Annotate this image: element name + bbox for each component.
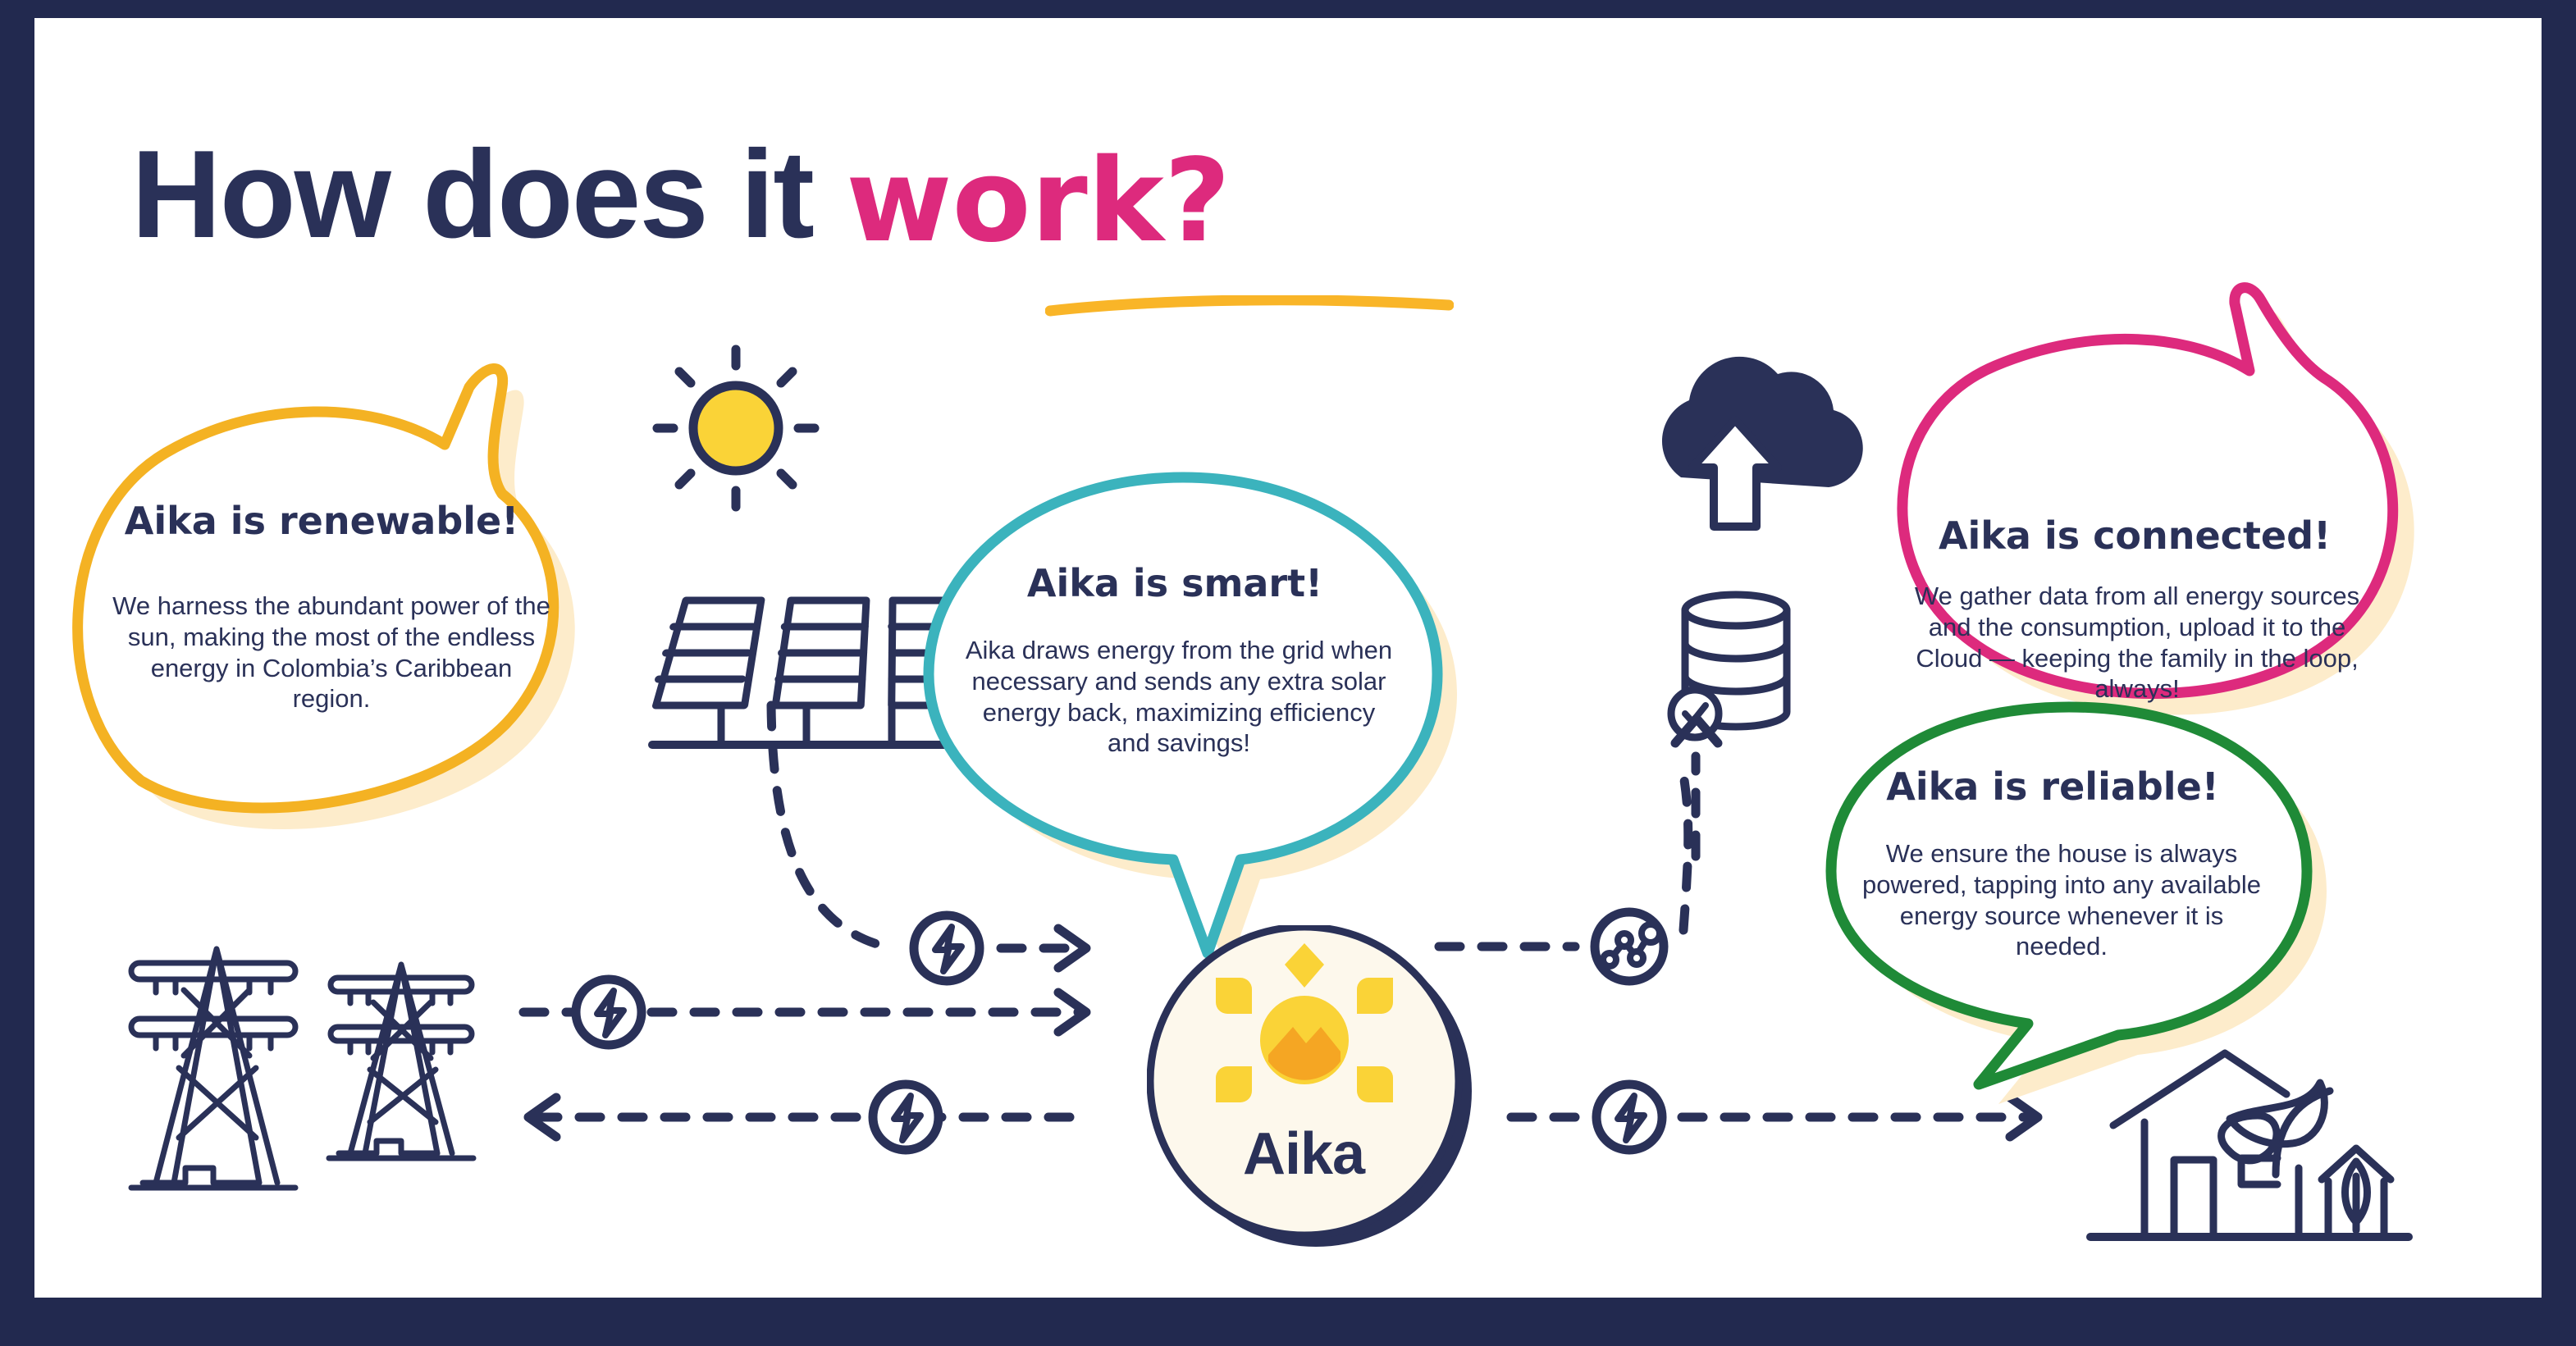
bubble-connected-heading: Aika is connected! [1864, 515, 2405, 557]
data-network-node-icon [1595, 912, 1664, 981]
bubble-smart[interactable]: Aika is smart! Aika draws energy from th… [912, 461, 1454, 970]
bubble-renewable-body: We harness the abundant power of the sun… [110, 591, 553, 714]
bubble-connected[interactable]: Aika is connected! We gather data from a… [1864, 289, 2438, 764]
lightning-bolt-node-icon [1596, 1084, 1662, 1150]
bubble-renewable[interactable]: Aika is renewable! We harness the abunda… [59, 354, 633, 814]
title-part-primary: How does it [131, 125, 846, 264]
arrowhead-grid-in [1058, 992, 1086, 1032]
amber-underline-icon [1045, 295, 1454, 317]
bubble-smart-body: Aika draws energy from the grid when nec… [961, 635, 1396, 759]
bubble-reliable[interactable]: Aika is reliable! We ensure the house is… [1823, 699, 2397, 1125]
slide-canvas: How does it work? [34, 18, 2542, 1298]
page-title: How does it work? [131, 123, 1231, 267]
bubble-reliable-heading: Aika is reliable! [1823, 766, 2282, 808]
bubble-renewable-shape [59, 354, 633, 814]
arrowhead-cloud [1675, 719, 1718, 743]
flow-solar-to-aika [771, 705, 893, 948]
bubble-connected-body: We gather data from all energy sources a… [1903, 581, 2371, 705]
bubble-reliable-body: We ensure the house is always powered, t… [1857, 838, 2266, 962]
title-part-accent: work? [846, 135, 1231, 268]
aika-logo[interactable]: Aika [1147, 925, 1491, 1253]
aika-wordmark: Aika [1147, 1120, 1460, 1188]
bubble-smart-heading: Aika is smart! [912, 563, 1437, 605]
aika-logo-badge [1147, 925, 1491, 1253]
flow-data-node-up [1682, 766, 1688, 930]
arrowhead-grid-out [528, 1097, 556, 1137]
bubble-renewable-heading: Aika is renewable! [59, 500, 584, 542]
lightning-bolt-node-icon [873, 1084, 939, 1150]
lightning-bolt-node-icon [576, 979, 642, 1045]
slide-frame: How does it work? [0, 0, 2576, 1346]
